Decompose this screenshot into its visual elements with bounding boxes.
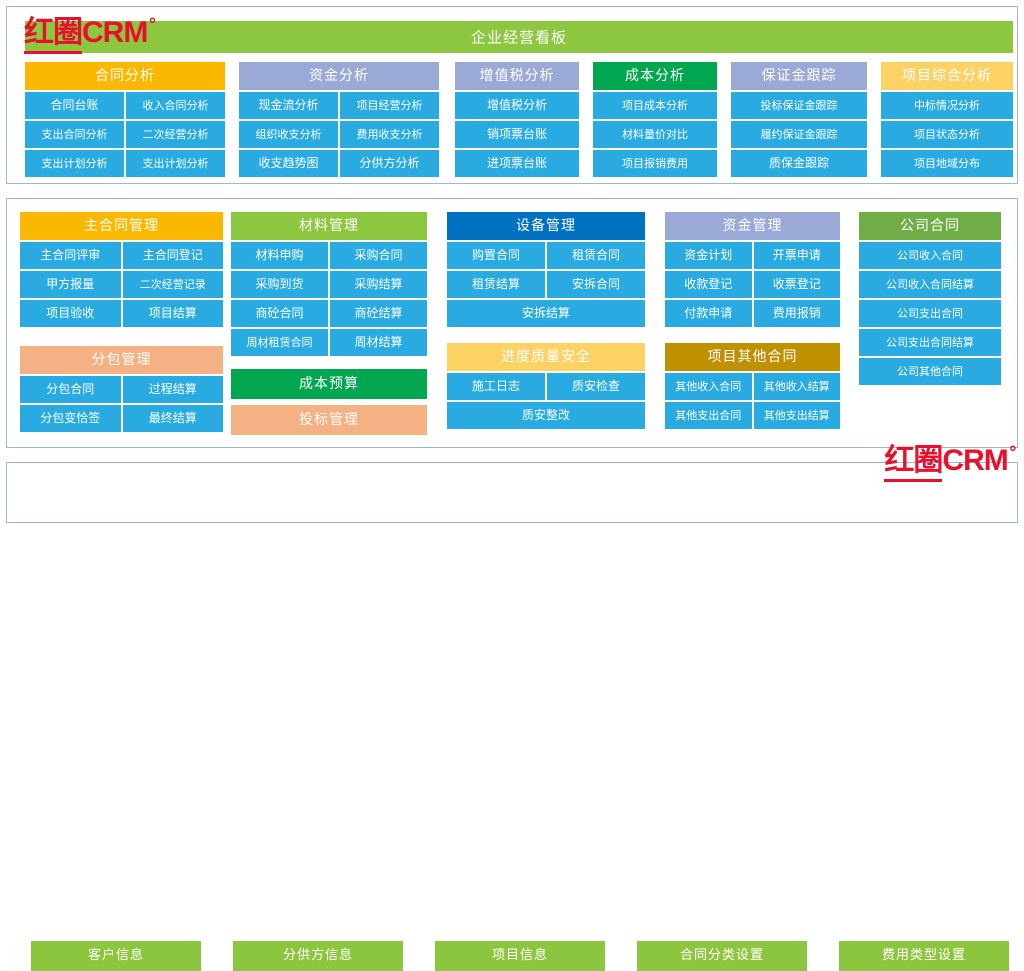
group-row: 其他支出合同其他支出结算 [665, 402, 840, 429]
cost-budget-button[interactable]: 成本预算 [231, 369, 427, 399]
menu-item[interactable]: 质安整改 [447, 402, 645, 429]
funds-management-header[interactable]: 资金管理 [665, 212, 840, 240]
group-row: 履约保证金跟踪 [731, 121, 867, 148]
group-row: 增值税分析 [455, 92, 579, 119]
bottom-button-customer-info[interactable]: 客户信息 [31, 941, 201, 971]
project-overall-analysis-items: 中标情况分析项目状态分析项目地域分布 [881, 92, 1013, 177]
group-row: 公司收入合同 [859, 242, 1001, 269]
group-project-overall-analysis: 项目综合分析中标情况分析项目状态分析项目地域分布 [881, 62, 1013, 177]
group-main-contract-management: 主合同管理主合同评审主合同登记甲方报量二次经营记录项目验收项目结算 [20, 212, 223, 327]
logo-chinese-text: 红圈 [24, 15, 82, 54]
menu-item[interactable]: 质保金跟踪 [731, 150, 867, 177]
menu-item[interactable]: 周材结算 [330, 329, 427, 356]
management-panel: 主合同管理主合同评审主合同登记甲方报量二次经营记录项目验收项目结算分包管理分包合… [6, 198, 1018, 448]
group-equipment-management: 设备管理购置合同租赁合同租赁结算安拆合同安拆结算 [447, 212, 645, 327]
group-subcontract-management: 分包管理分包合同过程结算分包变恰签最终结算 [20, 346, 223, 432]
group-row: 质安整改 [447, 402, 645, 429]
menu-item[interactable]: 主合同登记 [123, 242, 224, 269]
menu-item[interactable]: 收入合同分析 [126, 92, 225, 119]
vat-analysis-items: 增值税分析销项票台账进项票台账 [455, 92, 579, 177]
menu-item[interactable]: 公司支出合同结算 [859, 329, 1001, 356]
menu-item[interactable]: 采购合同 [330, 242, 427, 269]
menu-item[interactable]: 主合同评审 [20, 242, 121, 269]
menu-item[interactable]: 支出计划分析 [25, 150, 124, 177]
logo-degree-icon: ° [148, 15, 156, 34]
cost-analysis-items: 项目成本分析材料量价对比项目报销费用 [593, 92, 717, 177]
group-row: 安拆结算 [447, 300, 645, 327]
group-row: 投标保证金跟踪 [731, 92, 867, 119]
group-row: 销项票台账 [455, 121, 579, 148]
logo-crm-text: CRM [82, 16, 147, 49]
group-row: 质保金跟踪 [731, 150, 867, 177]
company-contract-items: 公司收入合同公司收入合同结算公司支出合同公司支出合同结算公司其他合同 [859, 242, 1001, 385]
deposit-tracking-items: 投标保证金跟踪履约保证金跟踪质保金跟踪 [731, 92, 867, 177]
group-row: 施工日志质安检查 [447, 373, 645, 400]
menu-item[interactable]: 周材租赁合同 [231, 329, 328, 356]
menu-item[interactable]: 公司收入合同 [859, 242, 1001, 269]
group-row: 收款登记收票登记 [665, 271, 840, 298]
menu-item[interactable]: 其他支出结算 [754, 402, 841, 429]
bottom-button-project-info[interactable]: 项目信息 [435, 941, 605, 971]
menu-item[interactable]: 开票申请 [754, 242, 841, 269]
logo-top-left: 红圈CRM° [24, 18, 156, 48]
contract-analysis-header[interactable]: 合同分析 [25, 62, 225, 90]
group-row: 甲方报量二次经营记录 [20, 271, 223, 298]
group-row: 项目地域分布 [881, 150, 1013, 177]
equipment-management-header[interactable]: 设备管理 [447, 212, 645, 240]
main-contract-management-header[interactable]: 主合同管理 [20, 212, 223, 240]
menu-item[interactable]: 项目状态分析 [881, 121, 1013, 148]
menu-item[interactable]: 购置合同 [447, 242, 545, 269]
group-row: 其他收入合同其他收入结算 [665, 373, 840, 400]
group-vat-analysis: 增值税分析增值税分析销项票台账进项票台账 [455, 62, 579, 177]
group-row: 项目报销费用 [593, 150, 717, 177]
equipment-management-items: 购置合同租赁合同租赁结算安拆合同安拆结算 [447, 242, 645, 327]
group-row: 公司支出合同 [859, 300, 1001, 327]
contract-analysis-items: 合同台账收入合同分析支出合同分析二次经营分析支出计划分析支出计划分析 [25, 92, 225, 177]
group-funds-management: 资金管理资金计划开票申请收款登记收票登记付款申请费用报销 [665, 212, 840, 327]
progress-quality-safety-items: 施工日志质安检查质安整改 [447, 373, 645, 429]
group-row: 公司其他合同 [859, 358, 1001, 385]
menu-item[interactable]: 收票登记 [754, 271, 841, 298]
menu-item[interactable]: 分供方分析 [340, 150, 439, 177]
menu-item[interactable]: 质安检查 [547, 373, 645, 400]
group-project-other-contracts: 项目其他合同其他收入合同其他收入结算其他支出合同其他支出结算 [665, 343, 840, 429]
page-title: 企业经营看板 [471, 27, 567, 48]
group-row: 材料量价对比 [593, 121, 717, 148]
group-row: 项目验收项目结算 [20, 300, 223, 327]
menu-item[interactable]: 采购结算 [330, 271, 427, 298]
group-row: 项目状态分析 [881, 121, 1013, 148]
funds-analysis-items: 现金流分析项目经营分析组织收支分析费用收支分析收支趋势图分供方分析 [239, 92, 439, 177]
top-banner: 企业经营看板 [25, 21, 1013, 53]
menu-item[interactable]: 材料申购 [231, 242, 328, 269]
menu-item[interactable]: 组织收支分析 [239, 121, 338, 148]
group-row: 公司收入合同结算 [859, 271, 1001, 298]
menu-item[interactable]: 过程结算 [123, 376, 224, 403]
material-management-header[interactable]: 材料管理 [231, 212, 427, 240]
group-row: 付款申请费用报销 [665, 300, 840, 327]
deposit-tracking-header[interactable]: 保证金跟踪 [731, 62, 867, 90]
group-progress-quality-safety: 进度质量安全施工日志质安检查质安整改 [447, 343, 645, 429]
group-cost-analysis: 成本分析项目成本分析材料量价对比项目报销费用 [593, 62, 717, 177]
menu-item[interactable]: 其他收入合同 [665, 373, 752, 400]
group-row: 采购到货采购结算 [231, 271, 427, 298]
group-row: 现金流分析项目经营分析 [239, 92, 439, 119]
group-row: 收支趋势图分供方分析 [239, 150, 439, 177]
company-contract-header[interactable]: 公司合同 [859, 212, 1001, 240]
material-management-items: 材料申购采购合同采购到货采购结算商砼合同商砼结算周材租赁合同周材结算 [231, 242, 427, 356]
basic-data-panel: 客户信息分供方信息项目信息合同分类设置费用类型设置 [6, 462, 1018, 523]
menu-item[interactable]: 分包变恰签 [20, 405, 121, 432]
subcontract-management-header[interactable]: 分包管理 [20, 346, 223, 374]
funds-management-items: 资金计划开票申请收款登记收票登记付款申请费用报销 [665, 242, 840, 327]
logo-chinese-text: 红圈 [884, 443, 942, 482]
group-row: 公司支出合同结算 [859, 329, 1001, 356]
menu-item[interactable]: 施工日志 [447, 373, 545, 400]
group-row: 租赁结算安拆合同 [447, 271, 645, 298]
project-other-contracts-header[interactable]: 项目其他合同 [665, 343, 840, 371]
menu-item[interactable]: 租赁合同 [547, 242, 645, 269]
subcontract-management-items: 分包合同过程结算分包变恰签最终结算 [20, 376, 223, 432]
group-bid-management: 投标管理 [231, 405, 427, 435]
menu-item[interactable]: 公司支出合同 [859, 300, 1001, 327]
group-cost-budget: 成本预算 [231, 369, 427, 399]
analysis-panel: 企业经营看板 合同分析合同台账收入合同分析支出合同分析二次经营分析支出计划分析支… [6, 6, 1018, 184]
group-deposit-tracking: 保证金跟踪投标保证金跟踪履约保证金跟踪质保金跟踪 [731, 62, 867, 177]
menu-item[interactable]: 费用报销 [754, 300, 841, 327]
menu-item[interactable]: 安拆合同 [547, 271, 645, 298]
main-contract-management-items: 主合同评审主合同登记甲方报量二次经营记录项目验收项目结算 [20, 242, 223, 327]
group-row: 进项票台账 [455, 150, 579, 177]
menu-item[interactable]: 最终结算 [123, 405, 224, 432]
menu-item[interactable]: 合同台账 [25, 92, 124, 119]
menu-item[interactable]: 项目报销费用 [593, 150, 717, 177]
menu-item[interactable]: 收款登记 [665, 271, 752, 298]
menu-item[interactable]: 其他收入结算 [754, 373, 841, 400]
menu-item[interactable]: 项目经营分析 [340, 92, 439, 119]
group-row: 中标情况分析 [881, 92, 1013, 119]
menu-item[interactable]: 中标情况分析 [881, 92, 1013, 119]
group-row: 项目成本分析 [593, 92, 717, 119]
logo-bottom-right: 红圈CRM° [884, 446, 1016, 476]
menu-item[interactable]: 收支趋势图 [239, 150, 338, 177]
bottom-button-expense-type-settings[interactable]: 费用类型设置 [839, 941, 1009, 971]
menu-item[interactable]: 资金计划 [665, 242, 752, 269]
vat-analysis-header[interactable]: 增值税分析 [455, 62, 579, 90]
funds-analysis-header[interactable]: 资金分析 [239, 62, 439, 90]
menu-item[interactable]: 项目结算 [123, 300, 224, 327]
progress-quality-safety-header[interactable]: 进度质量安全 [447, 343, 645, 371]
menu-item[interactable]: 履约保证金跟踪 [731, 121, 867, 148]
menu-item[interactable]: 付款申请 [665, 300, 752, 327]
menu-item[interactable]: 支出计划分析 [126, 150, 225, 177]
group-row: 组织收支分析费用收支分析 [239, 121, 439, 148]
group-row: 支出计划分析支出计划分析 [25, 150, 225, 177]
menu-item[interactable]: 现金流分析 [239, 92, 338, 119]
group-row: 材料申购采购合同 [231, 242, 427, 269]
project-overall-analysis-header[interactable]: 项目综合分析 [881, 62, 1013, 90]
menu-item[interactable]: 其他支出合同 [665, 402, 752, 429]
menu-item[interactable]: 甲方报量 [20, 271, 121, 298]
group-contract-analysis: 合同分析合同台账收入合同分析支出合同分析二次经营分析支出计划分析支出计划分析 [25, 62, 225, 177]
group-row: 商砼合同商砼结算 [231, 300, 427, 327]
logo-degree-icon: ° [1009, 443, 1017, 462]
menu-item[interactable]: 公司其他合同 [859, 358, 1001, 385]
group-row: 资金计划开票申请 [665, 242, 840, 269]
group-material-management: 材料管理材料申购采购合同采购到货采购结算商砼合同商砼结算周材租赁合同周材结算 [231, 212, 427, 356]
menu-item[interactable]: 租赁结算 [447, 271, 545, 298]
menu-item[interactable]: 进项票台账 [455, 150, 579, 177]
menu-item[interactable]: 商砼合同 [231, 300, 328, 327]
group-row: 周材租赁合同周材结算 [231, 329, 427, 356]
menu-item[interactable]: 项目成本分析 [593, 92, 717, 119]
menu-item[interactable]: 支出合同分析 [25, 121, 124, 148]
menu-item[interactable]: 费用收支分析 [340, 121, 439, 148]
menu-item[interactable]: 采购到货 [231, 271, 328, 298]
group-row: 购置合同租赁合同 [447, 242, 645, 269]
group-company-contract: 公司合同公司收入合同公司收入合同结算公司支出合同公司支出合同结算公司其他合同 [859, 212, 1001, 385]
menu-item[interactable]: 安拆结算 [447, 300, 645, 327]
dashboard-page: 企业经营看板 合同分析合同台账收入合同分析支出合同分析二次经营分析支出计划分析支… [0, 0, 1024, 529]
menu-item[interactable]: 公司收入合同结算 [859, 271, 1001, 298]
menu-item[interactable]: 二次经营记录 [123, 271, 224, 298]
group-row: 合同台账收入合同分析 [25, 92, 225, 119]
group-row: 主合同评审主合同登记 [20, 242, 223, 269]
menu-item[interactable]: 商砼结算 [330, 300, 427, 327]
bid-management-button[interactable]: 投标管理 [231, 405, 427, 435]
group-row: 支出合同分析二次经营分析 [25, 121, 225, 148]
logo-crm-text: CRM [942, 444, 1007, 477]
bottom-button-supplier-info[interactable]: 分供方信息 [233, 941, 403, 971]
group-row: 分包合同过程结算 [20, 376, 223, 403]
menu-item[interactable]: 项目验收 [20, 300, 121, 327]
bottom-button-contract-category-settings[interactable]: 合同分类设置 [637, 941, 807, 971]
menu-item[interactable]: 销项票台账 [455, 121, 579, 148]
menu-item[interactable]: 分包合同 [20, 376, 121, 403]
menu-item[interactable]: 增值税分析 [455, 92, 579, 119]
menu-item[interactable]: 材料量价对比 [593, 121, 717, 148]
group-funds-analysis: 资金分析现金流分析项目经营分析组织收支分析费用收支分析收支趋势图分供方分析 [239, 62, 439, 177]
group-row: 分包变恰签最终结算 [20, 405, 223, 432]
project-other-contracts-items: 其他收入合同其他收入结算其他支出合同其他支出结算 [665, 373, 840, 429]
menu-item[interactable]: 投标保证金跟踪 [731, 92, 867, 119]
cost-analysis-header[interactable]: 成本分析 [593, 62, 717, 90]
menu-item[interactable]: 项目地域分布 [881, 150, 1013, 177]
menu-item[interactable]: 二次经营分析 [126, 121, 225, 148]
